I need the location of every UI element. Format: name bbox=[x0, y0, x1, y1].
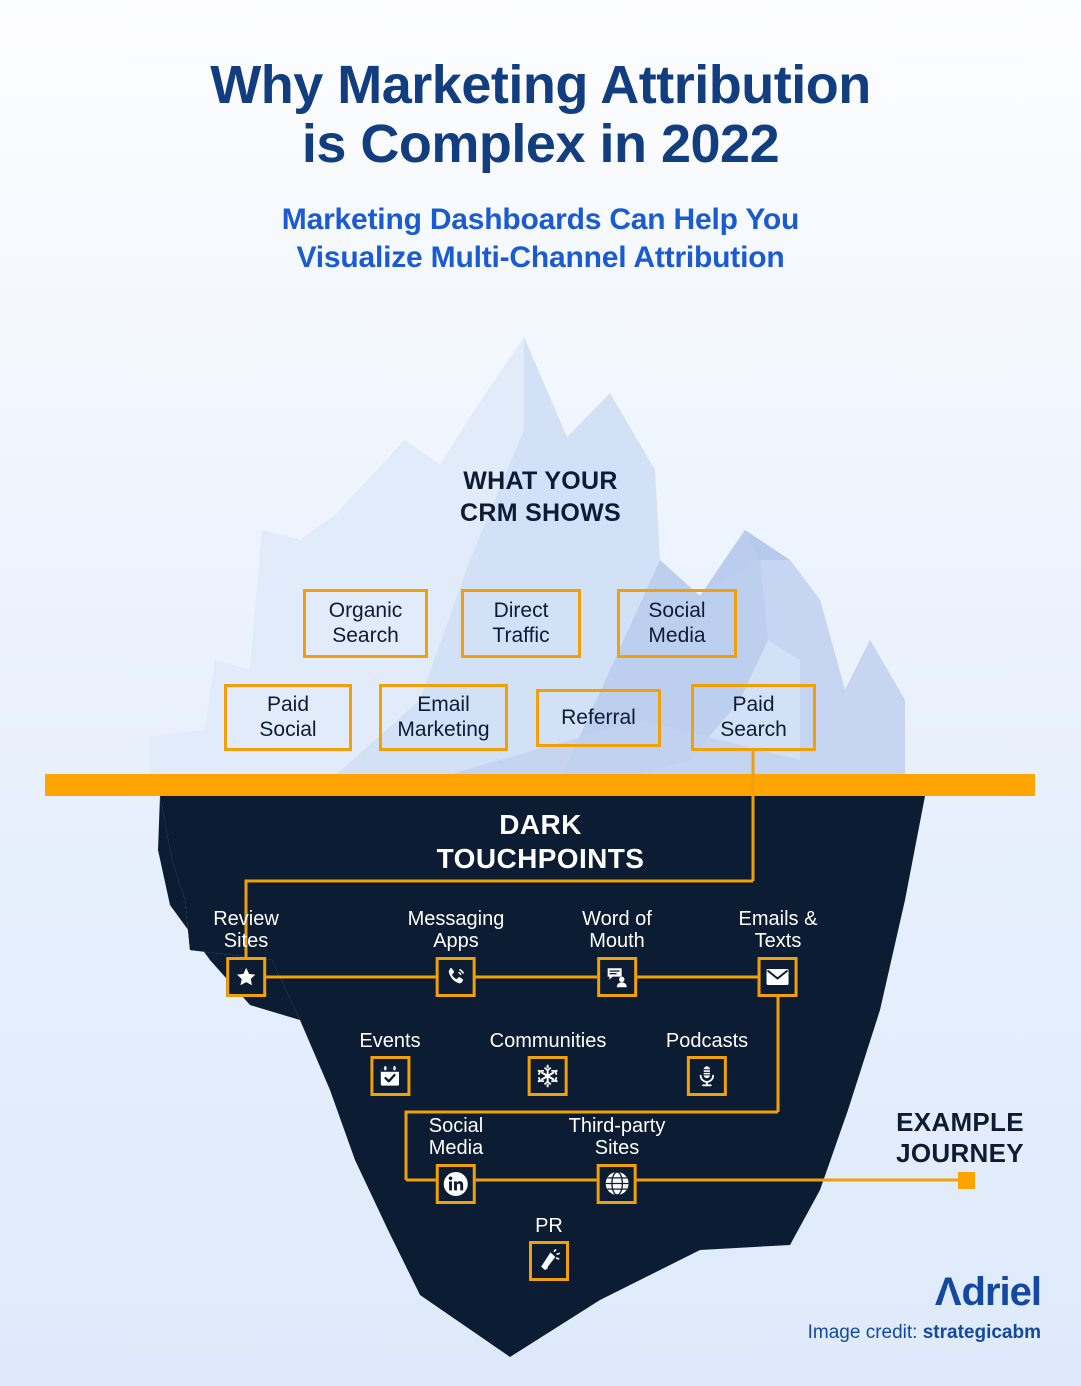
calendar-check-icon[interactable] bbox=[370, 1056, 410, 1096]
crm-channel-label: Organic Search bbox=[329, 599, 403, 649]
touchpoint-messaging-apps[interactable]: Messaging Apps bbox=[408, 908, 505, 997]
page-title: Why Marketing Attribution is Complex in … bbox=[0, 56, 1081, 175]
crm-channel-label: Direct Traffic bbox=[492, 599, 549, 649]
image-credit-prefix: Image credit: bbox=[808, 1322, 923, 1343]
touchpoint-label: PR bbox=[535, 1215, 563, 1237]
image-credit-source: strategicabm bbox=[923, 1322, 1041, 1343]
touchpoint-pr[interactable]: PR bbox=[529, 1215, 569, 1281]
journey-end-marker bbox=[958, 1172, 975, 1189]
touchpoint-label: Events bbox=[359, 1030, 420, 1052]
crm-channel-direct-traffic[interactable]: Direct Traffic bbox=[461, 589, 581, 658]
touchpoint-events[interactable]: Events bbox=[359, 1030, 420, 1096]
crm-channel-label: Paid Social bbox=[259, 693, 316, 743]
phone-ring-icon[interactable] bbox=[436, 957, 476, 997]
envelope-icon[interactable] bbox=[758, 957, 798, 997]
crm-channel-organic-search[interactable]: Organic Search bbox=[303, 589, 428, 658]
brand-footer: Λdriel Image credit: strategicabm bbox=[808, 1272, 1041, 1344]
touchpoint-communities[interactable]: Communities bbox=[490, 1030, 607, 1096]
waterline-bar bbox=[45, 774, 1035, 796]
crm-channel-label: Email Marketing bbox=[397, 693, 489, 743]
touchpoint-review-sites[interactable]: Review Sites bbox=[213, 908, 279, 997]
microphone-icon[interactable] bbox=[687, 1056, 727, 1096]
adriel-logo-mark: Λ bbox=[935, 1272, 961, 1312]
touchpoint-emails-texts[interactable]: Emails & Texts bbox=[739, 908, 818, 997]
touchpoint-label: Podcasts bbox=[666, 1030, 748, 1052]
dark-touchpoints-heading: DARK TOUCHPOINTS bbox=[0, 808, 1081, 876]
linkedin-icon[interactable] bbox=[436, 1164, 476, 1204]
touchpoint-label: Third-party Sites bbox=[569, 1115, 666, 1160]
crm-channel-label: Social Media bbox=[648, 599, 705, 649]
crm-channel-label: Paid Search bbox=[720, 693, 787, 743]
touchpoint-label: Communities bbox=[490, 1030, 607, 1052]
example-journey-label: EXAMPLE JOURNEY bbox=[860, 1107, 1060, 1169]
crm-channel-email-marketing[interactable]: Email Marketing bbox=[379, 684, 508, 751]
image-credit: Image credit: strategicabm bbox=[808, 1322, 1041, 1344]
crm-channel-paid-search[interactable]: Paid Search bbox=[691, 684, 816, 751]
crm-section-heading: WHAT YOUR CRM SHOWS bbox=[0, 465, 1081, 529]
crm-channel-social-media[interactable]: Social Media bbox=[617, 589, 737, 658]
globe-icon[interactable] bbox=[597, 1164, 637, 1204]
touchpoint-label: Review Sites bbox=[213, 908, 279, 953]
adriel-logo-text: driel bbox=[962, 1272, 1041, 1312]
touchpoint-word-of-mouth[interactable]: Word of Mouth bbox=[582, 908, 652, 997]
crm-channel-paid-social[interactable]: Paid Social bbox=[224, 684, 352, 751]
touchpoint-label: Emails & Texts bbox=[739, 908, 818, 953]
crm-channel-label: Referral bbox=[561, 706, 636, 731]
touchpoint-podcasts[interactable]: Podcasts bbox=[666, 1030, 748, 1096]
page-subtitle: Marketing Dashboards Can Help You Visual… bbox=[0, 201, 1081, 277]
star-icon[interactable] bbox=[226, 957, 266, 997]
snowflake-icon[interactable] bbox=[528, 1056, 568, 1096]
crm-channel-referral[interactable]: Referral bbox=[536, 689, 661, 747]
header: Why Marketing Attribution is Complex in … bbox=[0, 0, 1081, 277]
touchpoint-third-party-sites[interactable]: Third-party Sites bbox=[569, 1115, 666, 1204]
touchpoint-label: Word of Mouth bbox=[582, 908, 652, 953]
chat-person-icon[interactable] bbox=[597, 957, 637, 997]
touchpoint-social-media[interactable]: Social Media bbox=[429, 1115, 483, 1204]
touchpoint-label: Messaging Apps bbox=[408, 908, 505, 953]
touchpoint-label: Social Media bbox=[429, 1115, 483, 1160]
adriel-logo: Λdriel bbox=[808, 1272, 1041, 1312]
megaphone-icon[interactable] bbox=[529, 1241, 569, 1281]
